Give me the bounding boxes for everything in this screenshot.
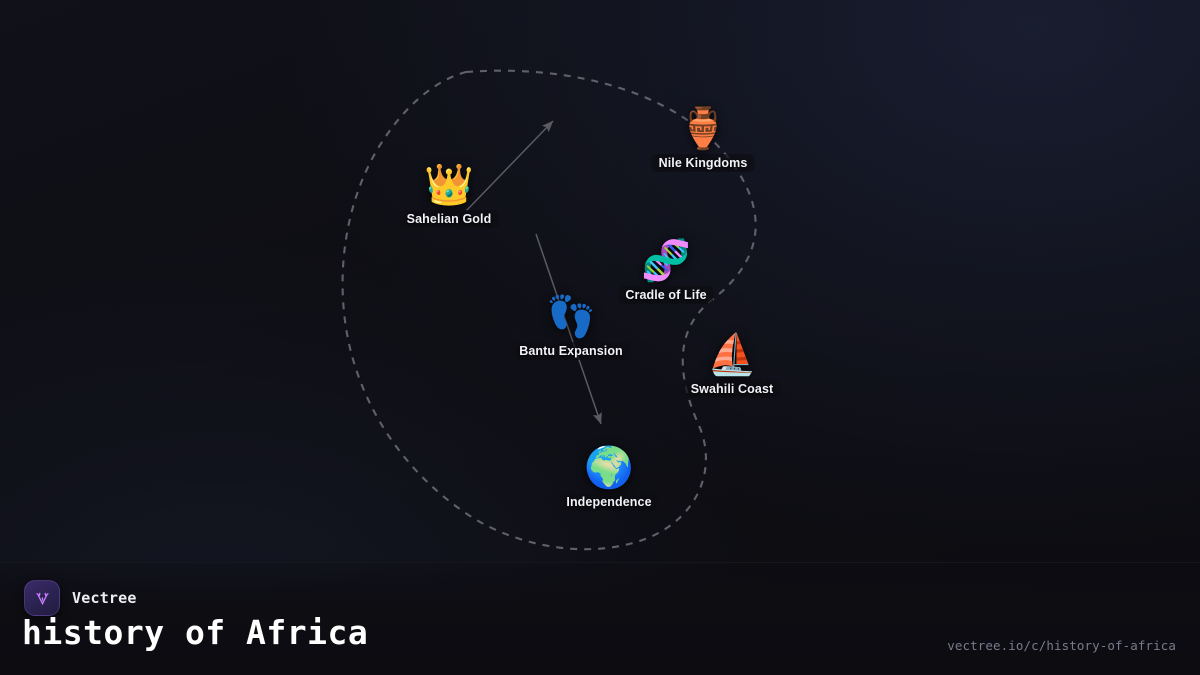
graph-node-label-cradle-of-life: Cradle of Life: [618, 286, 713, 304]
graph-node-swahili-coast[interactable]: ⛵Swahili Coast: [684, 332, 781, 398]
graph-node-label-swahili-coast: Swahili Coast: [684, 380, 781, 398]
globe-africa-icon: 🌍: [584, 445, 634, 491]
dna-icon: 🧬: [641, 238, 691, 284]
brand-row[interactable]: Vectree: [24, 580, 137, 616]
graph-node-nile-kingdoms[interactable]: 🏺Nile Kingdoms: [652, 106, 755, 172]
graph-node-label-sahelian-gold: Sahelian Gold: [400, 210, 499, 228]
graph-node-label-independence: Independence: [559, 493, 658, 511]
graph-node-sahelian-gold[interactable]: 👑Sahelian Gold: [400, 162, 499, 228]
graph-node-bantu-expansion[interactable]: 👣Bantu Expansion: [512, 294, 630, 360]
brand-name: Vectree: [72, 589, 137, 607]
graph-node-independence[interactable]: 🌍Independence: [559, 445, 658, 511]
sailboat-icon: ⛵: [707, 332, 757, 378]
graph-node-cradle-of-life[interactable]: 🧬Cradle of Life: [618, 238, 713, 304]
amphora-icon: 🏺: [678, 106, 728, 152]
vectree-v-logo-icon: [24, 580, 60, 616]
footer-url: vectree.io/c/history-of-africa: [947, 638, 1176, 653]
page-title: history of Africa: [22, 613, 368, 652]
graph-node-label-bantu-expansion: Bantu Expansion: [512, 342, 630, 360]
app-root: 🏺Nile Kingdoms👑Sahelian Gold🧬Cradle of L…: [0, 0, 1200, 675]
footprints-icon: 👣: [546, 294, 596, 340]
graph-node-label-nile-kingdoms: Nile Kingdoms: [652, 154, 755, 172]
footer-bar: Vectree history of Africa vectree.io/c/h…: [0, 562, 1200, 675]
crown-icon: 👑: [424, 162, 474, 208]
